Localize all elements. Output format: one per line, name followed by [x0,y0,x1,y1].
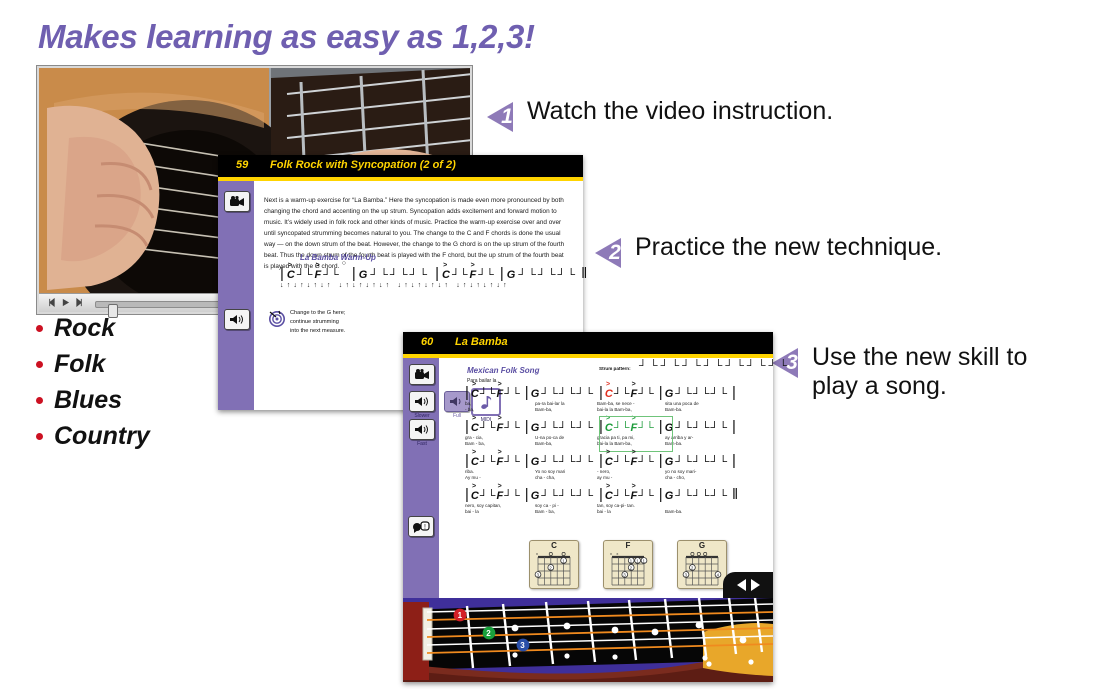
fast-forward-icon[interactable] [75,298,84,307]
lyric-cell: - ba, [465,407,535,414]
next-page-icon[interactable] [751,579,760,591]
lyric-cell [665,503,735,510]
lyric-cell: ba, [465,401,535,408]
window-toolbar[interactable] [218,181,254,410]
window-toolbar[interactable]: Slower Fast ! [403,358,439,598]
chord-grid: 2 3 4 [678,551,726,588]
guitar-fretboard-graphic: 1 2 3 [403,598,773,682]
play-icon[interactable] [61,298,70,307]
lesson-title: Folk Rock with Syncopation (2 of 2) [270,159,456,171]
bullet-dot-icon [36,433,43,440]
svg-text:2: 2 [486,629,491,638]
genre-label: Folk [54,348,105,380]
video-camera-glyph [415,369,430,380]
genre-label: Country [54,420,150,452]
lyric-cell: ay arriba y ar- [665,435,735,442]
speech-bubble-glyph: ! [413,521,430,533]
song-subtitle: Mexican Folk Song [467,366,539,375]
lyric-cell: sita una poca de [665,401,735,408]
speaker-icon-fast[interactable] [409,419,435,440]
list-item: Country [36,420,226,452]
bullet-dot-icon [36,325,43,332]
lyric-cell: Bam - ba, [535,509,597,516]
lesson-title: La Bamba [455,336,508,348]
lyric-cell: Bam-ba. [665,441,735,448]
svg-text:1: 1 [458,611,463,620]
chord-name: G [678,541,726,550]
lyric-cell: bai - la [597,509,665,516]
strum-pattern-notation: ┘└┘└┘└┘└┘└┘└┘└ [639,360,790,372]
video-camera-icon[interactable] [409,364,435,385]
step-3: 3 Use the new skill to play a song. [772,348,1027,401]
step-arrow-icon: 2 [595,238,621,268]
lyric-cell: ay mu - [597,475,665,482]
step-arrow-icon: 1 [487,102,513,132]
step-text: Use the new skill to play a song. [812,343,1027,401]
lyric-cell: Bam - ba, [465,441,535,448]
step-number: 1 [496,105,518,129]
svg-text:x: x [616,551,618,556]
rewind-icon[interactable] [47,298,56,307]
speaker-glyph [449,396,465,407]
lyric-cell: pa-ra bai-lar la [535,401,597,408]
page-number: 59 [236,159,248,171]
svg-text:x: x [610,551,612,556]
window-header: 60 La Bamba [403,332,773,354]
lyric-cell: U-na po-ca de [535,435,597,442]
staff-row: | >C ┘└ >F ┘└ | G ┘└┘└┘└ | >C ┘└ >F ┘└ |… [465,488,761,522]
green-highlight-box [599,416,673,452]
window-body: Slower Fast ! [403,358,773,598]
lyric-cell: Bam-ba, [535,441,597,448]
lyric-cell: Ay mu - [465,475,535,482]
speaker-glyph [229,314,245,325]
lyric-cell: Bam-ba, se nece - [597,401,665,408]
chord-name: F [604,541,652,550]
step-1: 1 Watch the video instruction. [487,102,833,132]
staff-row: | >C ┘└ >F ┘└ | G ┘└┘└┘└ | >C ┘└ >F ┘└ |… [465,454,761,488]
tip-text: Change to the G here; continue strumming… [290,309,345,337]
lyric-cell: riba. [465,469,535,476]
svg-text:!: ! [424,524,426,531]
lyric-cell: tan, soy ca-pi- tan. [597,503,665,510]
genre-list: Rock Folk Blues Country [36,312,226,456]
chord-diagram-g[interactable]: G 2 3 [677,540,727,589]
step-text: Watch the video instruction. [527,97,833,126]
bullet-dot-icon [36,361,43,368]
lyric-cell: Yo no soy mari [535,469,597,476]
lyric-cell: cha - cho, [665,475,735,482]
svg-text:3: 3 [520,641,525,650]
staff-row: | >C ┘└ >F ┘└ | G ┘└┘└┘└ | >C ┘└ >F ┘└ |… [465,420,761,454]
song-staves: | >C ┘└ >F ┘└ | G ┘└┘└┘└ | >C ┘└ >F ┘└ |… [465,386,761,522]
lyric-cell: Bam-ba. [665,407,735,414]
previous-page-icon[interactable] [737,579,746,591]
lesson-tip: Change to the G here; continue strumming… [268,309,345,337]
list-item: Blues [36,384,226,416]
speaker-glyph [414,396,430,407]
lyric-cell: nero, soy capitan, [465,503,535,510]
lyric-cell: soy ca - pi - [535,503,597,510]
chord-diagram-f[interactable]: F x x 1 1 [603,540,653,589]
lyric-cell: gra - cia, [465,435,535,442]
lyric-cell: Bam-ba, [535,407,597,414]
staff-row: | >C ┘└ >F ┘└ | G ┘└┘└┘└ | >C ┘└ >F ┘└ |… [465,386,761,420]
bullet-dot-icon [36,397,43,404]
lyric-cell: bai-la la Bam-ba, [597,407,665,414]
video-camera-icon[interactable] [224,191,250,212]
target-icon [268,309,286,327]
chord-diagram-group: C x 1 2 [529,540,727,589]
page-title: Makes learning as easy as 1,2,3! [38,18,535,56]
lyric-cell: bai - la [465,509,535,516]
speaker-glyph [414,424,430,435]
lyric-cell: Bam-ba. [665,509,735,516]
genre-label: Rock [54,312,115,344]
lyric-cell: cha - cha, [535,475,597,482]
chord-diagram-c[interactable]: C x 1 2 [529,540,579,589]
step-text: Practice the new technique. [635,233,942,262]
video-camera-glyph [230,196,245,207]
speaker-icon[interactable] [224,309,250,330]
lyric-cell: - nero, [597,469,665,476]
page-number: 60 [421,336,433,348]
notation-staff: | >C ┘└ >F ┘└ ○ | G ┘└┘└┘└ | >C ┘└ >F ┘└… [280,267,570,289]
strum-pattern-label: Strum pattern: [599,366,631,371]
page-navigation[interactable] [723,572,773,598]
lyric-cell: yo no soy mari- [665,469,735,476]
window-header: 59 Folk Rock with Syncopation (2 of 2) [218,155,583,177]
chord-name: C [530,541,578,550]
list-item: Rock [36,312,226,344]
fretboard-illustration: 1 2 3 [403,598,773,682]
exercise-title: La Bamba Warm-Up [300,253,376,262]
speech-bubble-icon[interactable]: ! [408,516,434,537]
svg-text:x: x [536,551,538,556]
genre-label: Blues [54,384,122,416]
chord-grid: x x 1 1 1 2 3 [604,551,652,588]
chord-grid: x 1 2 3 [530,551,578,588]
list-item: Folk [36,348,226,380]
step-2: 2 Practice the new technique. [595,238,942,268]
step-number: 2 [604,241,626,265]
lesson-window-60[interactable]: 60 La Bamba [403,332,773,682]
speaker-icon-slower[interactable] [409,391,435,412]
toolbar-label-fast: Fast [409,441,435,447]
